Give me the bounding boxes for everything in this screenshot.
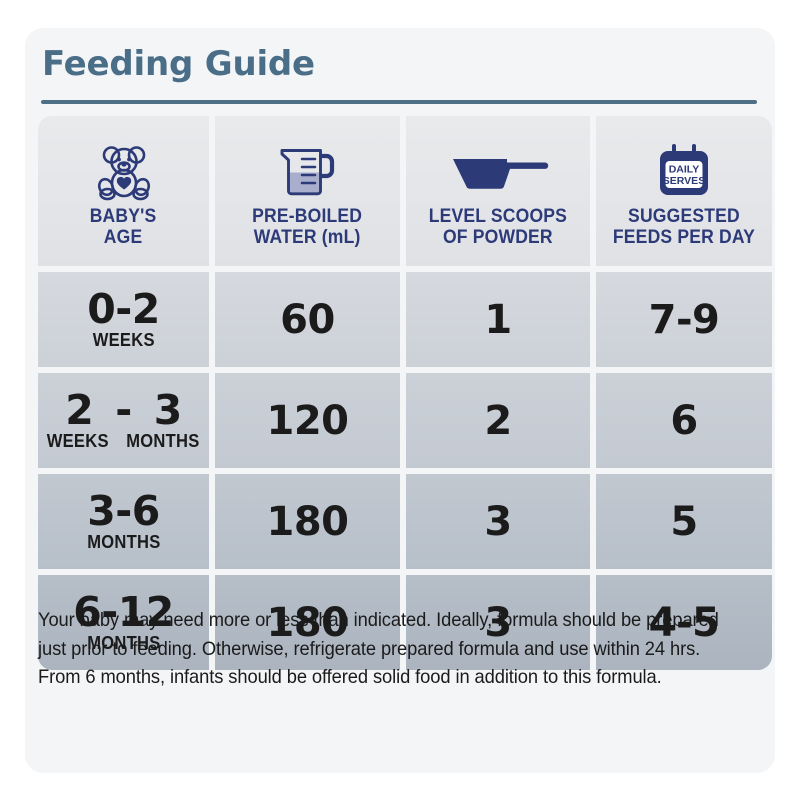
table-row: 5 — [596, 474, 772, 569]
table-row: 3 — [406, 474, 590, 569]
measuring-jug-icon — [277, 140, 339, 202]
age-value-left: 2 — [65, 390, 93, 430]
age-unit: WEEKS — [92, 331, 154, 351]
footnote-line-1: Your baby may need more or less than ind… — [38, 606, 724, 635]
scoops-value: 3 — [484, 499, 511, 545]
column-header-water: PRE-BOILED WATER (mL) — [215, 116, 400, 266]
water-value: 120 — [267, 398, 349, 444]
column-header-feeds-label: SUGGESTED FEEDS PER DAY — [613, 206, 755, 248]
table-row: 6 — [596, 373, 772, 468]
feeds-value: 7-9 — [649, 297, 720, 343]
column-header-age-label: BABY'S AGE — [90, 206, 157, 248]
column-header-age: BABY'S AGE — [38, 116, 209, 266]
scoop-icon — [445, 140, 551, 202]
footnote-line-2: just prior to feeding. Otherwise, refrig… — [38, 635, 724, 664]
page-title: Feeding Guide — [42, 44, 315, 84]
calendar-icon-line2: SERVES — [663, 175, 705, 187]
age-value: 3-6 — [87, 491, 160, 531]
feeding-guide-card: Feeding Guide — [25, 28, 775, 773]
footnote: Your baby may need more or less than ind… — [38, 606, 724, 692]
water-value: 60 — [280, 297, 335, 343]
age-unit-left: WEEKS — [47, 432, 109, 452]
column-header-feeds: DAILY SERVES SUGGESTED FEEDS PER DAY — [596, 116, 772, 266]
calendar-icon-line1: DAILY — [669, 163, 700, 175]
table-row: 180 — [215, 474, 400, 569]
age-unit-split: WEEKS MONTHS — [44, 432, 203, 452]
table-row: 2 - 3 WEEKS MONTHS — [38, 373, 209, 468]
feeding-guide-table: BABY'S AGE PRE-BOILE — [38, 116, 760, 670]
age-unit: MONTHS — [87, 533, 160, 553]
table-row: 7-9 — [596, 272, 772, 367]
table-row: 60 — [215, 272, 400, 367]
daily-serves-calendar-icon: DAILY SERVES — [655, 140, 713, 202]
column-header-water-label: PRE-BOILED WATER (mL) — [252, 206, 362, 248]
column-header-scoops-label: LEVEL SCOOPS OF POWDER — [429, 206, 567, 248]
age-value-split: 2 - 3 — [65, 390, 182, 430]
table-row: 0-2 WEEKS — [38, 272, 209, 367]
column-header-scoops: LEVEL SCOOPS OF POWDER — [406, 116, 590, 266]
table-row: 120 — [215, 373, 400, 468]
feeds-value: 5 — [670, 499, 697, 545]
table-row: 2 — [406, 373, 590, 468]
footnote-line-3: From 6 months, infants should be offered… — [38, 663, 724, 692]
age-range-dash: - — [115, 390, 132, 430]
table-row: 1 — [406, 272, 590, 367]
scoops-value: 1 — [484, 297, 511, 343]
age-unit-right: MONTHS — [127, 432, 200, 452]
water-value: 180 — [267, 499, 349, 545]
teddy-bear-icon — [94, 140, 154, 202]
scoops-value: 2 — [484, 398, 511, 444]
table-row: 3-6 MONTHS — [38, 474, 209, 569]
age-value-right: 3 — [154, 390, 182, 430]
age-value: 0-2 — [87, 289, 160, 329]
title-divider — [41, 100, 757, 104]
feeds-value: 6 — [670, 398, 697, 444]
